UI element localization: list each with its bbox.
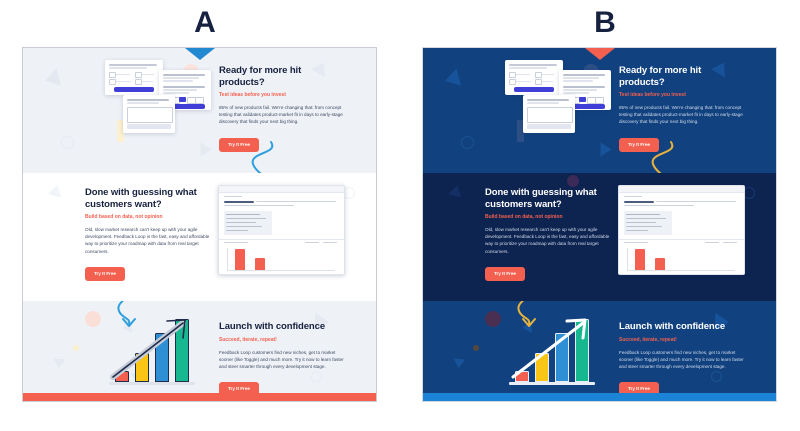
hero-subheading: Test ideas before you invest [619, 92, 749, 99]
results-bar-2 [655, 258, 665, 270]
middle-body: Old, slow market research can't keep up … [85, 226, 213, 255]
hero-copy-b: Ready for more hit products? Test ideas … [619, 65, 749, 152]
middle-section-b: Done with guessing what customers want? … [423, 173, 776, 301]
variant-label-b: B [575, 6, 635, 40]
middle-body: Old, slow market research can't keep up … [485, 226, 613, 255]
curved-arrow-hero-a [241, 140, 281, 173]
decorative-triangle [601, 143, 612, 157]
decorative-circle [473, 345, 479, 351]
decorative-triangle [43, 68, 61, 89]
bottom-body: Feedback Loop customers find new niches,… [219, 349, 347, 371]
middle-cta-button[interactable]: Try It Free [85, 267, 125, 281]
bottom-copy-b: Launch with confidence Succeed, iterate,… [619, 321, 747, 393]
middle-subheading: Build based on data, not opinion [485, 214, 613, 221]
decorative-triangle [448, 183, 464, 197]
bottom-subheading: Succeed, iterate, repeat! [219, 337, 347, 344]
decorative-triangle [201, 143, 212, 157]
bottom-subheading: Succeed, iterate, repeat! [619, 337, 747, 344]
decorative-circle [73, 345, 79, 351]
hero-body: 85% of new products fail. We're changing… [219, 104, 349, 126]
browser-mockup-b[interactable] [618, 185, 745, 275]
bottom-heading: Launch with confidence [619, 321, 747, 333]
footer-bar-a [23, 393, 376, 401]
hero-body: 85% of new products fail. We're changing… [619, 104, 749, 126]
decorative-circle [461, 136, 474, 149]
decorative-circle [567, 175, 579, 187]
survey-card-options[interactable] [505, 60, 563, 95]
decorative-triangle [453, 358, 466, 368]
decorative-circle [61, 136, 74, 149]
hero-copy-a: Ready for more hit products? Test ideas … [219, 65, 349, 152]
bottom-copy-a: Launch with confidence Succeed, iterate,… [219, 321, 347, 393]
footer-bar-b [423, 393, 776, 401]
curved-arrow-hero-b [641, 140, 681, 173]
browser-chrome-bar [219, 186, 344, 193]
middle-section-a: Done with guessing what customers want? … [23, 173, 376, 301]
middle-copy-a: Done with guessing what customers want? … [85, 187, 213, 281]
decorative-circle [485, 311, 501, 327]
hero-section-b: Ready for more hit products? Test ideas … [423, 48, 776, 173]
results-bar-1 [635, 249, 645, 270]
bottom-cta-button[interactable]: Try It Free [219, 382, 259, 393]
top-chevron-icon-a [185, 48, 215, 60]
panel-tail-a [23, 401, 376, 402]
browser-mockup-a[interactable] [218, 185, 345, 275]
rating-selected[interactable] [179, 97, 186, 102]
variant-label-a: A [175, 6, 235, 40]
rating-selected[interactable] [579, 97, 586, 102]
results-bar-1 [235, 249, 245, 270]
results-bar-2 [255, 258, 265, 270]
top-chevron-icon-b [585, 48, 615, 60]
bottom-section-a: Launch with confidence Succeed, iterate,… [23, 301, 376, 393]
decorative-triangle [53, 358, 66, 368]
middle-cta-button[interactable]: Try It Free [485, 267, 525, 281]
curved-arrow-bottom-b [511, 301, 545, 329]
decorative-circle [85, 311, 101, 327]
middle-copy-b: Done with guessing what customers want? … [485, 187, 613, 281]
decorative-triangle [48, 183, 64, 197]
middle-heading: Done with guessing what customers want? [85, 187, 213, 210]
hero-section-a: Ready for more hit products? Test ideas … [23, 48, 376, 173]
hero-subheading: Test ideas before you invest [219, 92, 349, 99]
survey-card-open-text[interactable] [123, 95, 175, 133]
hero-heading: Ready for more hit products? [619, 65, 749, 88]
panel-tail-b [423, 401, 776, 402]
middle-heading: Done with guessing what customers want? [485, 187, 613, 210]
curved-arrow-bottom-a [111, 301, 145, 329]
hero-heading: Ready for more hit products? [219, 65, 349, 88]
browser-chrome-bar [619, 186, 744, 193]
ab-comparison-stage: A B [0, 0, 800, 431]
bottom-section-b: Launch with confidence Succeed, iterate,… [423, 301, 776, 393]
variant-panel-a[interactable]: Ready for more hit products? Test ideas … [22, 47, 377, 402]
bottom-cta-button[interactable]: Try It Free [619, 382, 659, 393]
survey-card-open-text[interactable] [523, 95, 575, 133]
bottom-body: Feedback Loop customers find new niches,… [619, 349, 747, 371]
middle-subheading: Build based on data, not opinion [85, 214, 213, 221]
variant-panel-b[interactable]: Ready for more hit products? Test ideas … [422, 47, 777, 402]
bottom-heading: Launch with confidence [219, 321, 347, 333]
decorative-triangle [443, 68, 461, 89]
survey-card-options[interactable] [105, 60, 163, 95]
